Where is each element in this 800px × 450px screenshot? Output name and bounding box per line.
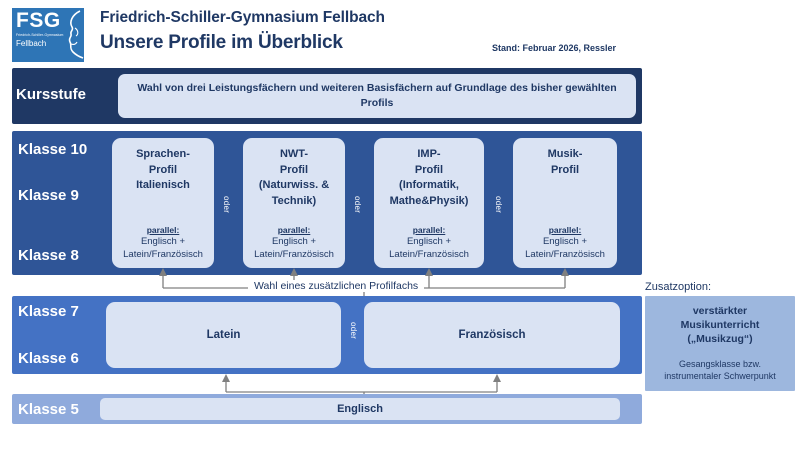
profile-card-musik[interactable]: Musik- Profil parallel: Englisch + Latei… — [513, 138, 617, 268]
grade-label-klasse-7: Klasse 7 — [18, 303, 79, 320]
logo-acronym: FSG — [16, 10, 63, 32]
parallel-keyword: parallel: — [525, 224, 605, 237]
grade-label-klasse-6: Klasse 6 — [18, 350, 79, 367]
page-title-school: Friedrich-Schiller-Gymnasium Fellbach — [100, 9, 385, 27]
grade-label-klasse-10: Klasse 10 — [18, 141, 87, 158]
profile-card-imp[interactable]: IMP- Profil (Informatik, Mathe&Physik) p… — [374, 138, 484, 268]
parallel-keyword: parallel: — [254, 224, 334, 237]
profile-card-title: Sprachen- Profil Italienisch — [136, 147, 190, 194]
zusatzoption-title: Zusatzoption: — [645, 281, 711, 293]
separator-oder-4: oder — [349, 322, 358, 339]
kursstufe-description-box: Wahl von drei Leistungsfächern und weite… — [118, 74, 636, 118]
separator-oder-1: oder — [222, 196, 231, 213]
profile-card-parallel: parallel: Englisch + Latein/Französisch — [389, 224, 469, 262]
parallel-keyword: parallel: — [123, 224, 203, 237]
zusatzoption-heading: verstärkter Musikunterricht („Musikzug“) — [681, 304, 760, 346]
profile-card-nwt[interactable]: NWT- Profil (Naturwiss. & Technik) paral… — [243, 138, 345, 268]
profile-card-title: NWT- Profil (Naturwiss. & Technik) — [259, 147, 329, 209]
separator-oder-2: oder — [353, 196, 362, 213]
profile-card-parallel: parallel: Englisch + Latein/Französisch — [123, 224, 203, 262]
zusatzoption-note: Gesangsklasse bzw. instrumentaler Schwer… — [664, 358, 776, 382]
logo-school-name-small: Friedrich-Schiller-Gymnasium — [16, 32, 63, 38]
base-subject-card-englisch[interactable]: Englisch — [100, 398, 620, 420]
parallel-keyword: parallel: — [389, 224, 469, 237]
logo-town: Fellbach — [16, 39, 63, 49]
profile-card-title: IMP- Profil (Informatik, Mathe&Physik) — [390, 147, 469, 209]
profile-card-parallel: parallel: Englisch + Latein/Französisch — [254, 224, 334, 262]
grade-label-klasse-9: Klasse 9 — [18, 187, 79, 204]
schiller-profile-icon — [63, 8, 84, 62]
profile-card-sprachen[interactable]: Sprachen- Profil Italienisch parallel: E… — [112, 138, 214, 268]
logo-text-block: FSG Friedrich-Schiller-Gymnasium Fellbac… — [12, 8, 63, 62]
kursstufe-label: Kursstufe — [16, 86, 86, 103]
language-card-franzoesisch[interactable]: Französisch — [364, 302, 620, 368]
school-logo: FSG Friedrich-Schiller-Gymnasium Fellbac… — [12, 8, 84, 62]
page-title: Unsere Profile im Überblick — [100, 32, 343, 54]
separator-oder-3: oder — [494, 196, 503, 213]
grade-label-klasse-5: Klasse 5 — [18, 401, 79, 418]
zusatzoption-card[interactable]: verstärkter Musikunterricht („Musikzug“)… — [645, 296, 795, 391]
connector-label-profilfach: Wahl eines zusätzlichen Profilfachs — [248, 280, 424, 292]
profile-card-parallel: parallel: Englisch + Latein/Französisch — [525, 224, 605, 262]
slide-canvas: FSG Friedrich-Schiller-Gymnasium Fellbac… — [0, 0, 800, 450]
revision-stamp: Stand: Februar 2026, Ressler — [492, 43, 616, 53]
language-card-latein[interactable]: Latein — [106, 302, 341, 368]
profile-card-title: Musik- Profil — [548, 147, 583, 178]
